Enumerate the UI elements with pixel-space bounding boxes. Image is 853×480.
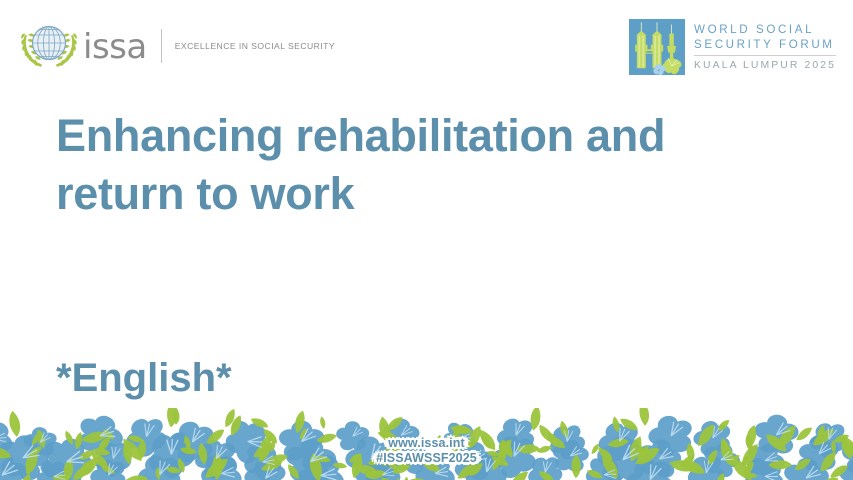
issa-tagline: EXCELLENCE IN SOCIAL SECURITY bbox=[175, 41, 335, 51]
issa-logo-divider bbox=[161, 29, 162, 63]
issa-logo: issa EXCELLENCE IN SOCIAL SECURITY bbox=[20, 21, 335, 71]
wssf-city-year: KUALA LUMPUR 2025 bbox=[694, 59, 836, 72]
issa-wordmark: issa bbox=[83, 30, 147, 64]
presentation-slide: issa EXCELLENCE IN SOCIAL SECURITY bbox=[0, 0, 853, 480]
wssf-divider-rule bbox=[694, 55, 836, 56]
wssf-line-2: SECURITY FORUM bbox=[694, 38, 836, 53]
slide-title: Enhancing rehabilitation and return to w… bbox=[56, 107, 756, 223]
issa-globe-laurel-emblem bbox=[20, 21, 78, 71]
petronas-towers-emblem bbox=[629, 19, 685, 75]
wssf-text-block: WORLD SOCIAL SECURITY FORUM KUALA LUMPUR… bbox=[694, 19, 836, 72]
hibiscus-floral-band bbox=[0, 408, 853, 480]
wssf-line-1: WORLD SOCIAL bbox=[694, 23, 836, 38]
slide-language-label: *English* bbox=[56, 355, 232, 401]
wssf-logo: WORLD SOCIAL SECURITY FORUM KUALA LUMPUR… bbox=[629, 19, 836, 75]
